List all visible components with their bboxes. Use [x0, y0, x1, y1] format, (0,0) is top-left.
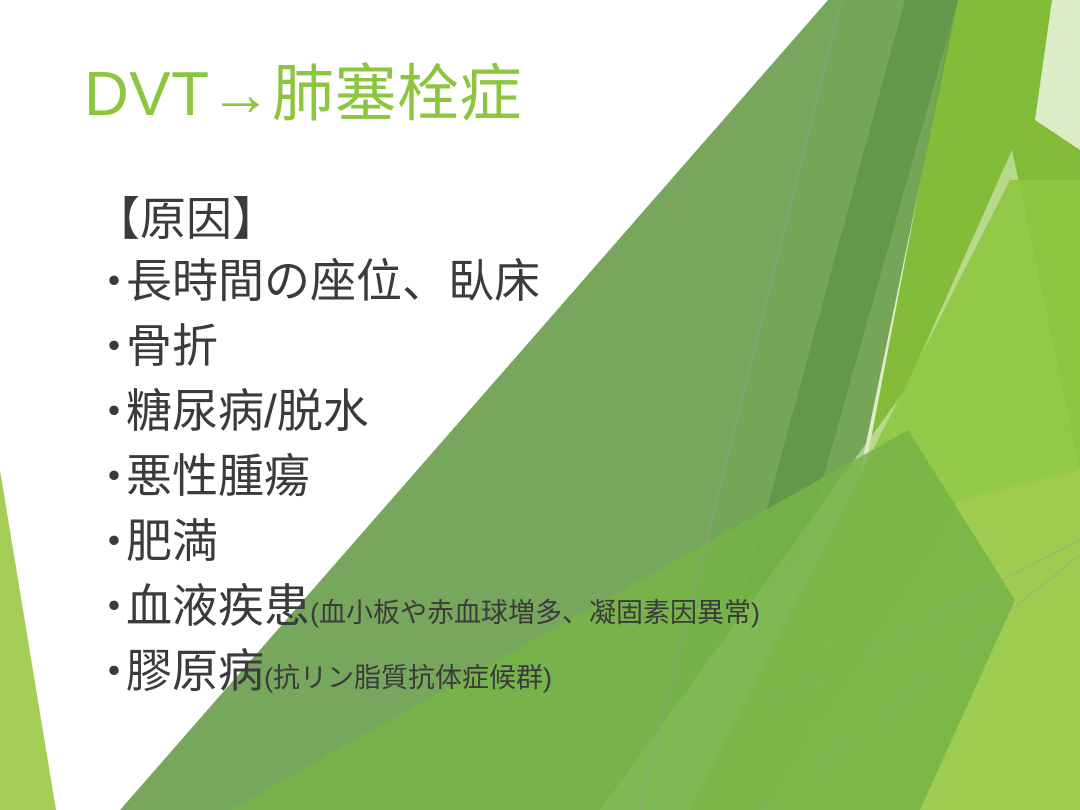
list-item-label: 長時間の座位、臥床 [126, 258, 540, 304]
bullet-dot-icon: ・ [92, 391, 126, 435]
bullet-dot-icon: ・ [92, 326, 126, 370]
list-item: ・ 血液疾患 (血小板や赤血球増多、凝固素因異常) [92, 583, 872, 630]
bullet-dot-icon: ・ [92, 521, 126, 565]
bullet-dot-icon: ・ [92, 586, 126, 630]
slide-canvas: DVT→肺塞栓症 【原因】 ・ 長時間の座位、臥床 ・ 骨折 ・ 糖尿病/脱水 … [0, 0, 1080, 810]
list-item-note: (抗リン脂質抗体症候群) [264, 665, 552, 692]
list-item: ・ 骨折 [92, 323, 872, 370]
body-content-block: 【原因】 ・ 長時間の座位、臥床 ・ 骨折 ・ 糖尿病/脱水 ・ 悪性腫瘍 [92, 196, 872, 695]
list-item: ・ 膠原病 (抗リン脂質抗体症候群) [92, 648, 872, 695]
page-title: DVT→肺塞栓症 [84, 62, 522, 127]
list-item: ・ 悪性腫瘍 [92, 453, 872, 500]
list-item-label: 糖尿病/脱水 [126, 388, 369, 434]
list-item-label: 悪性腫瘍 [126, 453, 310, 499]
list-item: ・ 肥満 [92, 518, 872, 565]
list-item: ・ 長時間の座位、臥床 [92, 258, 872, 305]
bullet-dot-icon: ・ [92, 456, 126, 500]
list-item-label: 骨折 [126, 323, 218, 369]
slide-content: DVT→肺塞栓症 【原因】 ・ 長時間の座位、臥床 ・ 骨折 ・ 糖尿病/脱水 … [0, 0, 1080, 810]
bullet-dot-icon: ・ [92, 651, 126, 695]
list-item-label: 血液疾患 [126, 583, 310, 629]
list-item: ・ 糖尿病/脱水 [92, 388, 872, 435]
bullet-dot-icon: ・ [92, 261, 126, 305]
section-heading-cause: 【原因】 [92, 196, 872, 242]
list-item-label: 膠原病 [126, 648, 264, 694]
list-item-note: (血小板や赤血球増多、凝固素因異常) [310, 600, 760, 627]
list-item-label: 肥満 [126, 518, 218, 564]
